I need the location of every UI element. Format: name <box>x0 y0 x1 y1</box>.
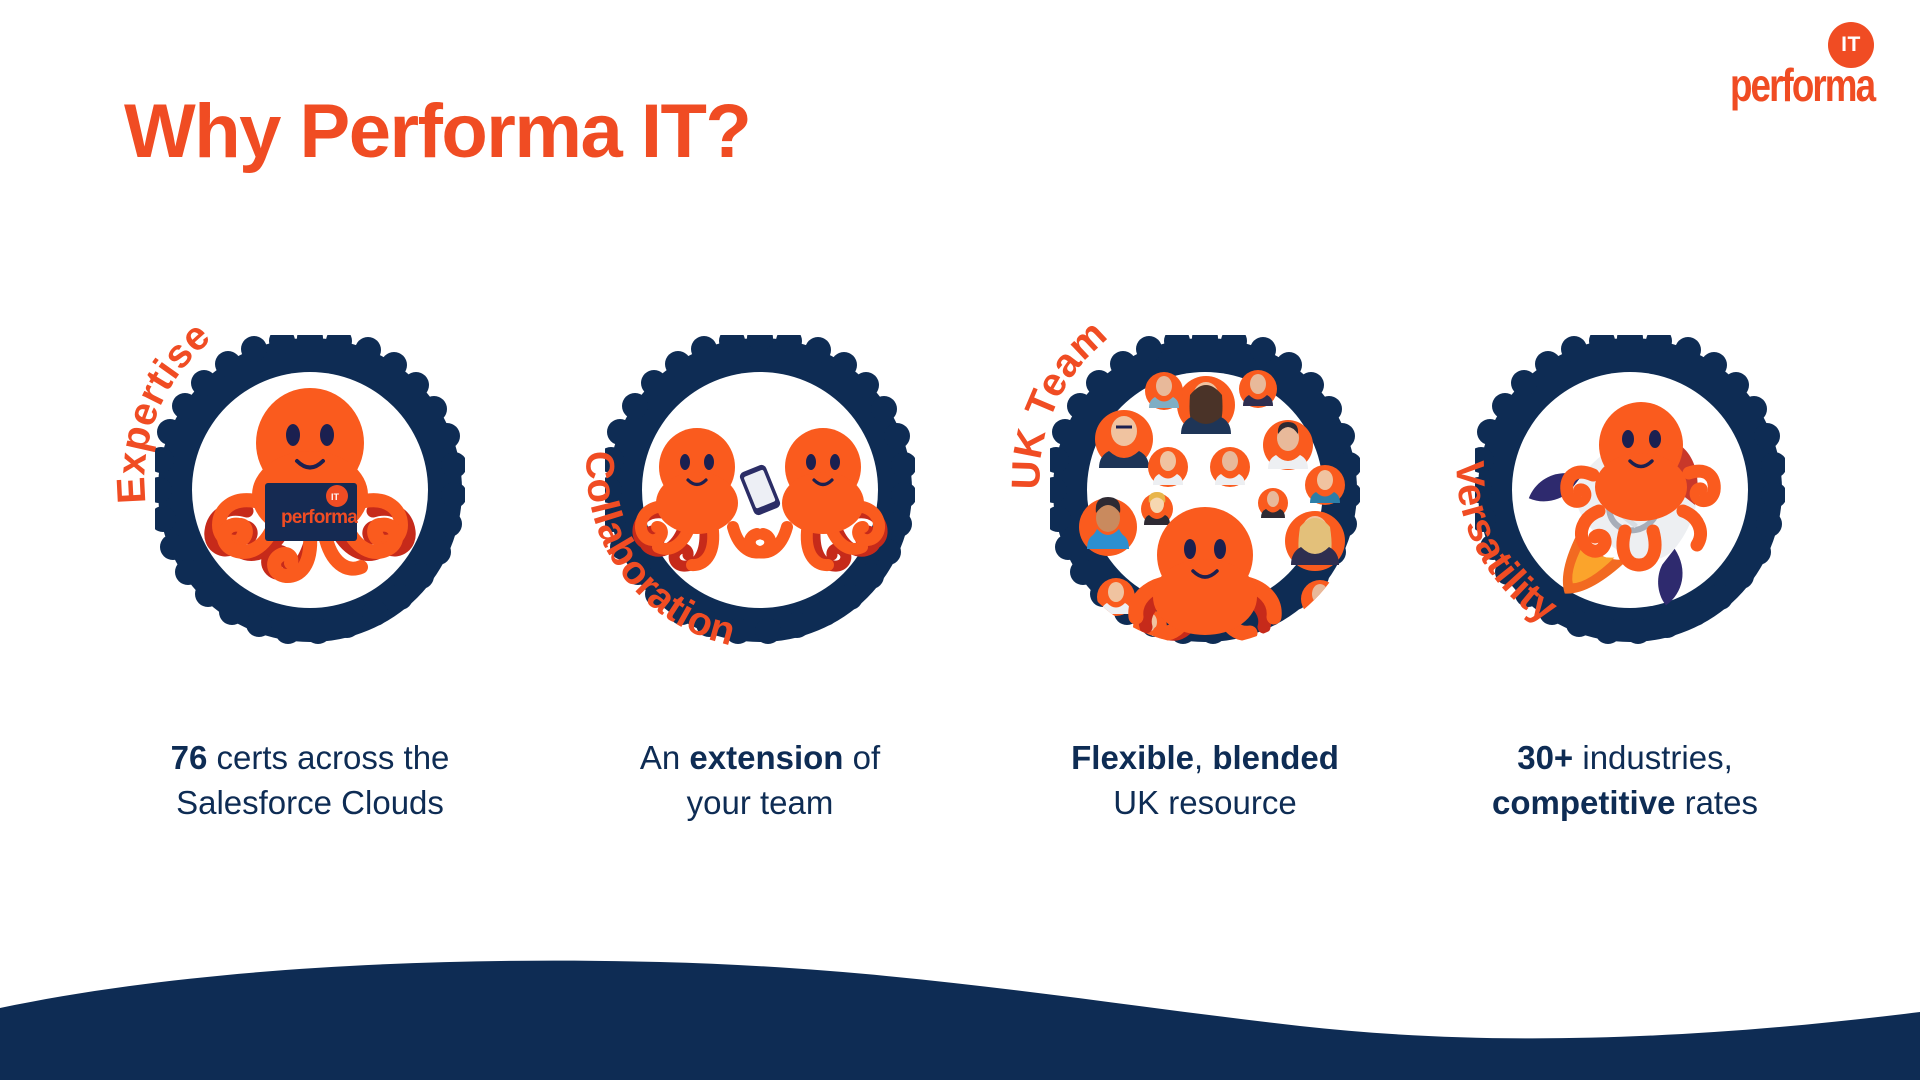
badge-uk-team: UK Team <box>1015 290 1395 710</box>
illustration-two-octopuses <box>605 335 915 645</box>
caption-versatility: 30+ industries,competitive rates <box>1425 735 1825 825</box>
badge-versatility: Versatility <box>1440 290 1820 710</box>
phone-icon <box>738 463 781 516</box>
caption-uk-team: Flexible, blendedUK resource <box>1005 735 1405 825</box>
svg-text:performa: performa <box>281 507 358 528</box>
caption-expertise: 76 certs across theSalesforce Clouds <box>110 735 510 825</box>
illustration-team-avatars <box>1050 335 1360 645</box>
caption-collaboration: An extension ofyour team <box>560 735 960 825</box>
illustration-octopus-rocket <box>1475 335 1785 645</box>
performa-sign: performa IT <box>265 483 358 541</box>
badge-collaboration: Collaboration <box>570 290 950 710</box>
caption-row: 76 certs across theSalesforce Clouds An … <box>0 735 1920 855</box>
page-title: Why Performa IT? <box>124 88 750 175</box>
slide-canvas: performa IT Why Performa IT? <box>0 0 1920 1080</box>
illustration-octopus-sign: performa IT <box>155 335 465 645</box>
footer-wave-decoration <box>0 950 1920 1080</box>
wave-path <box>0 961 1920 1080</box>
logo-it-badge-icon: IT <box>1828 22 1874 68</box>
badge-expertise: performa IT Expertise <box>120 290 500 710</box>
svg-text:IT: IT <box>331 492 340 502</box>
logo-wordmark: performa <box>1730 62 1874 108</box>
performa-it-logo: performa IT <box>1730 22 1880 110</box>
badge-row: performa IT Expertise <box>0 290 1920 710</box>
